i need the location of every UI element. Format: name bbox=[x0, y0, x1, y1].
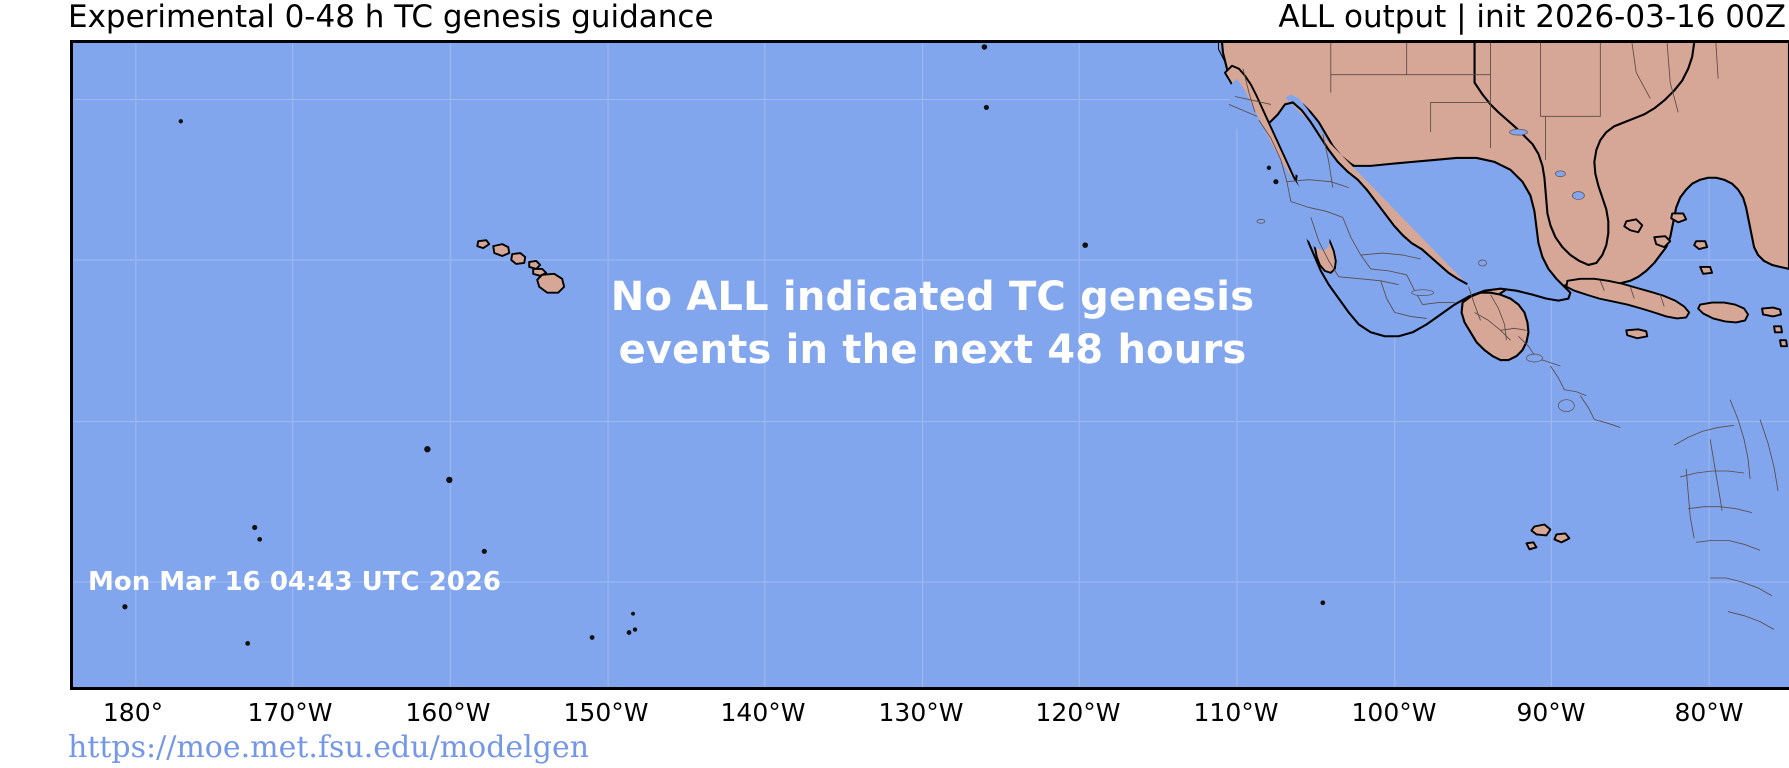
xtick-180: 180° bbox=[103, 698, 163, 727]
map-canvas bbox=[73, 43, 1789, 687]
xtick-130w: 130°W bbox=[879, 698, 964, 727]
xtick-120w: 120°W bbox=[1036, 698, 1121, 727]
xtick-110w: 110°W bbox=[1194, 698, 1279, 727]
xtick-170w: 170°W bbox=[248, 698, 333, 727]
xtick-150w: 150°W bbox=[564, 698, 649, 727]
xtick-80w: 80°W bbox=[1674, 698, 1743, 727]
source-url-link[interactable]: https://moe.met.fsu.edu/modelgen bbox=[68, 730, 589, 765]
xtick-140w: 140°W bbox=[721, 698, 806, 727]
land-layer bbox=[122, 43, 1789, 646]
xtick-100w: 100°W bbox=[1352, 698, 1437, 727]
xtick-90w: 90°W bbox=[1516, 698, 1585, 727]
header-bar: Experimental 0-48 h TC genesis guidance … bbox=[0, 0, 1789, 40]
xtick-160w: 160°W bbox=[406, 698, 491, 727]
run-info-label: ALL output | init 2026-03-16 00Z bbox=[1278, 0, 1786, 37]
map-panel[interactable]: No ALL indicated TC genesis events in th… bbox=[70, 40, 1789, 690]
page-title: Experimental 0-48 h TC genesis guidance bbox=[68, 0, 714, 37]
